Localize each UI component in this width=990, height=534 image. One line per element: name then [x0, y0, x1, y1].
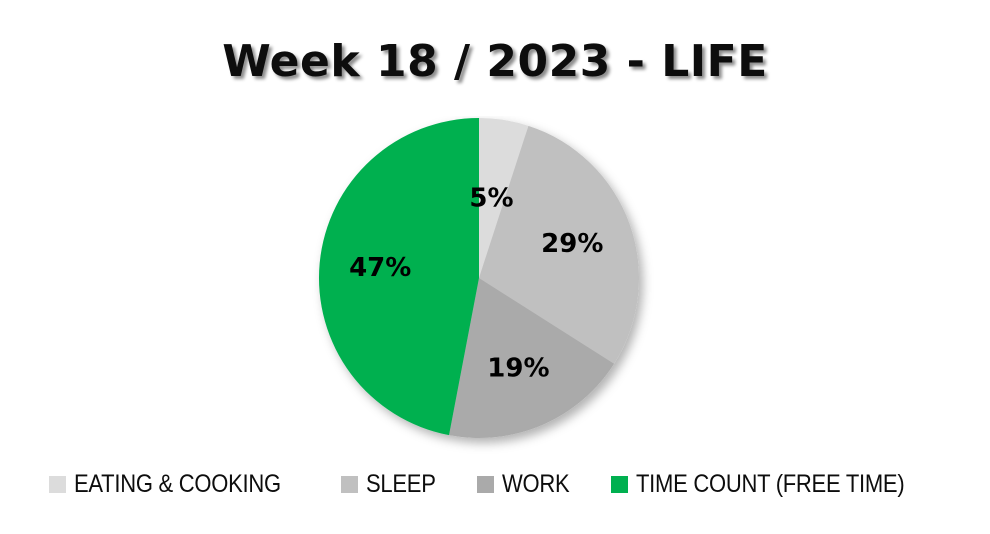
legend-swatch-icon: [611, 476, 628, 493]
pie-label-work: 19%: [487, 354, 549, 384]
legend-item-eating-and-cooking[interactable]: EATING & COOKING: [49, 470, 309, 499]
pie-label-time-count-free-time: 47%: [349, 253, 411, 283]
legend-item-time-count-free-time[interactable]: TIME COUNT (FREE TIME): [611, 470, 941, 499]
legend-swatch-icon: [477, 476, 494, 493]
legend-swatch-icon: [49, 476, 66, 493]
legend-swatch-icon: [341, 476, 358, 493]
pie-chart-figure: Week 18 / 2023 - LIFE 5% 29% 19% 47%: [0, 0, 990, 534]
pie-svg: 5% 29% 19% 47%: [311, 116, 679, 460]
legend-item-sleep[interactable]: SLEEP: [341, 470, 445, 499]
legend-item-label: WORK: [502, 470, 569, 499]
chart-legend: EATING & COOKING SLEEP WORK TIME COUNT (…: [0, 470, 990, 499]
legend-item-label: TIME COUNT (FREE TIME): [636, 470, 904, 499]
legend-item-label: SLEEP: [366, 470, 436, 499]
legend-item-label: EATING & COOKING: [74, 470, 281, 499]
chart-title: Week 18 / 2023 - LIFE: [0, 36, 990, 87]
pie-label-eating-and-cooking: 5%: [469, 184, 513, 214]
pie-plot-area: 5% 29% 19% 47%: [0, 110, 990, 460]
pie-label-sleep: 29%: [541, 229, 603, 259]
legend-item-work[interactable]: WORK: [477, 470, 579, 499]
